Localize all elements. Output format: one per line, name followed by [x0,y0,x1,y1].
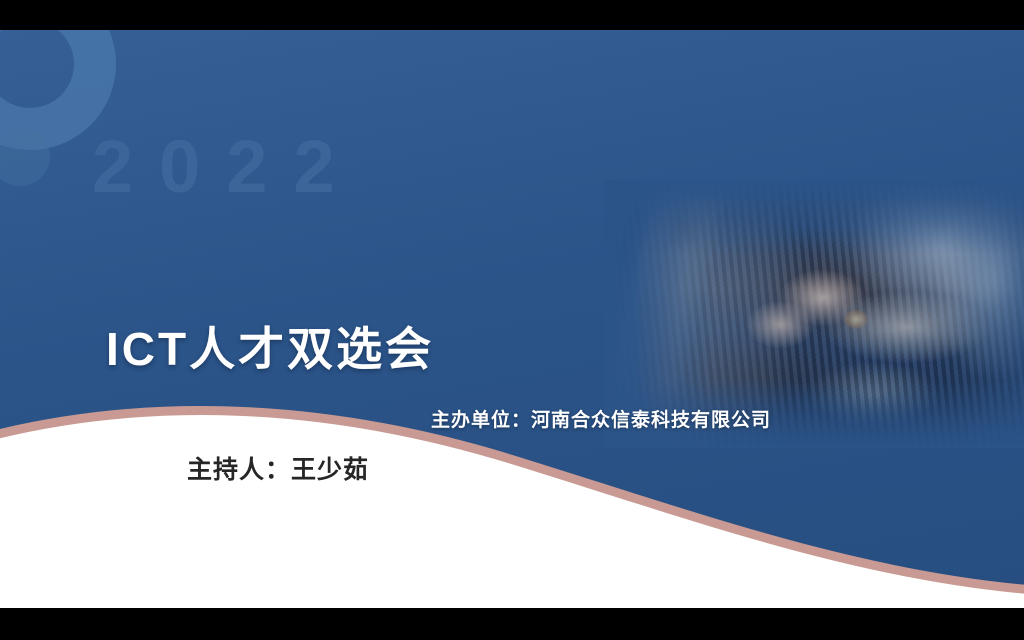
host-text: 主持人：王少茹 [187,450,369,486]
letterbox-top [0,0,1024,30]
organizer-text: 主办单位：河南合众信泰科技有限公司 [431,405,771,432]
slide-viewport: 2022 ICT人才双选会 主办单位：河南合众信泰科技有限公司 主持人：王少茹 [0,0,1024,640]
slide-canvas: 2022 ICT人才双选会 主办单位：河南合众信泰科技有限公司 主持人：王少茹 [0,30,1024,608]
white-wave-band [0,358,1024,608]
wave-fill [0,411,1024,608]
letterbox-bottom [0,608,1024,640]
year-watermark: 2022 [92,130,361,204]
wave-svg [0,358,1024,608]
